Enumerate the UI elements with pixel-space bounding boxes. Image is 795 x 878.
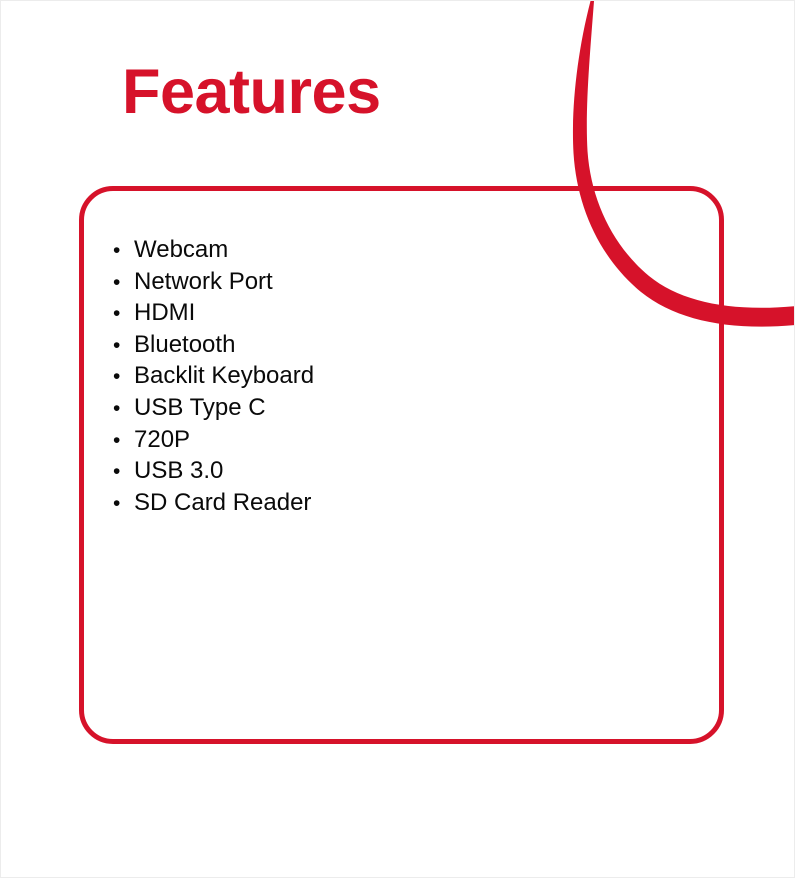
list-item-label: Network Port — [134, 267, 273, 298]
list-item-label: SD Card Reader — [134, 488, 311, 519]
list-item-label: USB Type C — [134, 393, 266, 424]
bullet-dot-icon: • — [113, 426, 134, 457]
list-item: • HDMI — [113, 298, 314, 330]
list-item: • Webcam — [113, 235, 314, 267]
list-item-label: Backlit Keyboard — [134, 361, 314, 392]
bullet-dot-icon: • — [113, 236, 134, 267]
list-item: • Backlit Keyboard — [113, 361, 314, 393]
list-item: • USB 3.0 — [113, 456, 314, 488]
bullet-dot-icon: • — [113, 362, 134, 393]
list-item: • SD Card Reader — [113, 488, 314, 520]
bullet-dot-icon: • — [113, 394, 134, 425]
bullet-dot-icon: • — [113, 331, 134, 362]
features-slide: Features • Webcam • Network Port • HDMI … — [0, 0, 795, 878]
feature-list: • Webcam • Network Port • HDMI • Bluetoo… — [113, 235, 314, 519]
bullet-dot-icon: • — [113, 489, 134, 520]
list-item: • USB Type C — [113, 393, 314, 425]
list-item-label: Webcam — [134, 235, 228, 266]
list-item: • 720P — [113, 425, 314, 457]
bullet-dot-icon: • — [113, 268, 134, 299]
list-item-label: Bluetooth — [134, 330, 235, 361]
bullet-dot-icon: • — [113, 299, 134, 330]
page-title: Features — [122, 59, 381, 125]
list-item: • Network Port — [113, 267, 314, 299]
list-item-label: HDMI — [134, 298, 195, 329]
list-item: • Bluetooth — [113, 330, 314, 362]
list-item-label: USB 3.0 — [134, 456, 223, 487]
bullet-dot-icon: • — [113, 457, 134, 488]
list-item-label: 720P — [134, 425, 190, 456]
